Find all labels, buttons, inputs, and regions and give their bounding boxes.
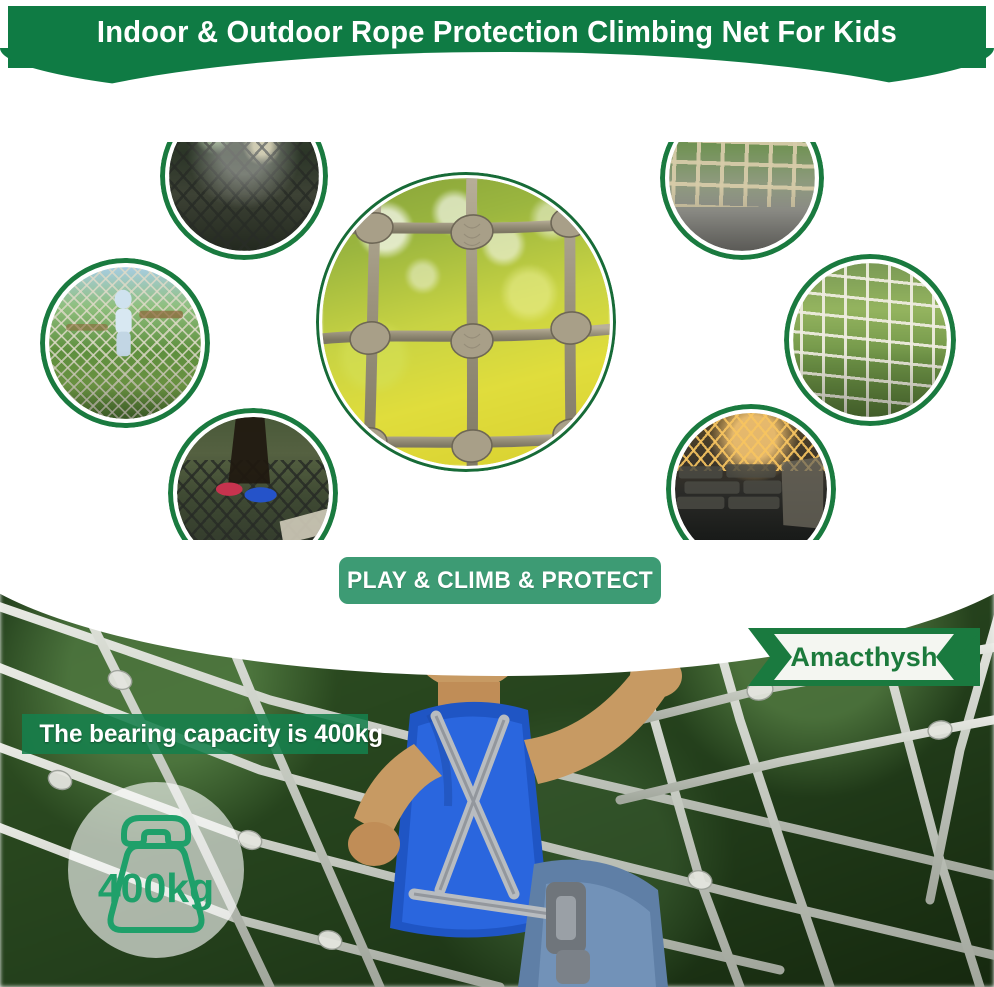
weight-block-icon: 400kg (68, 782, 244, 958)
child-climbing-photo (49, 267, 201, 419)
brand-name: Amacthysh (790, 642, 937, 673)
bearing-capacity-label: The bearing capacity is 400kg (39, 720, 383, 749)
weight-capacity-badge: 400kg (68, 782, 244, 958)
collage-circle-middle-right: white rope net climbing frame on grass (784, 254, 956, 426)
weight-value-text: 400kg (98, 865, 214, 911)
rope-net-closeup-photo (322, 178, 610, 466)
collage-circle-center: knotted rope climbing net close-up on gr… (316, 172, 616, 472)
net-frame-photo (793, 263, 947, 417)
page-title: Indoor & Outdoor Rope Protection Climbin… (37, 14, 956, 50)
play-climb-protect-badge: PLAY & CLIMB & PROTECT (339, 557, 661, 604)
header-banner: Indoor & Outdoor Rope Protection Climbin… (8, 6, 986, 68)
bearing-capacity-banner: The bearing capacity is 400kg (22, 714, 368, 754)
play-climb-protect-label: PLAY & CLIMB & PROTECT (347, 567, 653, 595)
brand-ribbon-label-wrap: Amacthysh (748, 628, 980, 686)
collage-circle-middle-left: child climbing on outdoor rope play stru… (40, 258, 210, 428)
knotted-rope-net-illustration (322, 178, 610, 466)
product-poster: Indoor & Outdoor Rope Protection Climbin… (0, 0, 994, 987)
collage-area: dark rope climbing net tunnel at playgro… (0, 68, 994, 568)
brand-ribbon: Amacthysh (748, 628, 980, 686)
